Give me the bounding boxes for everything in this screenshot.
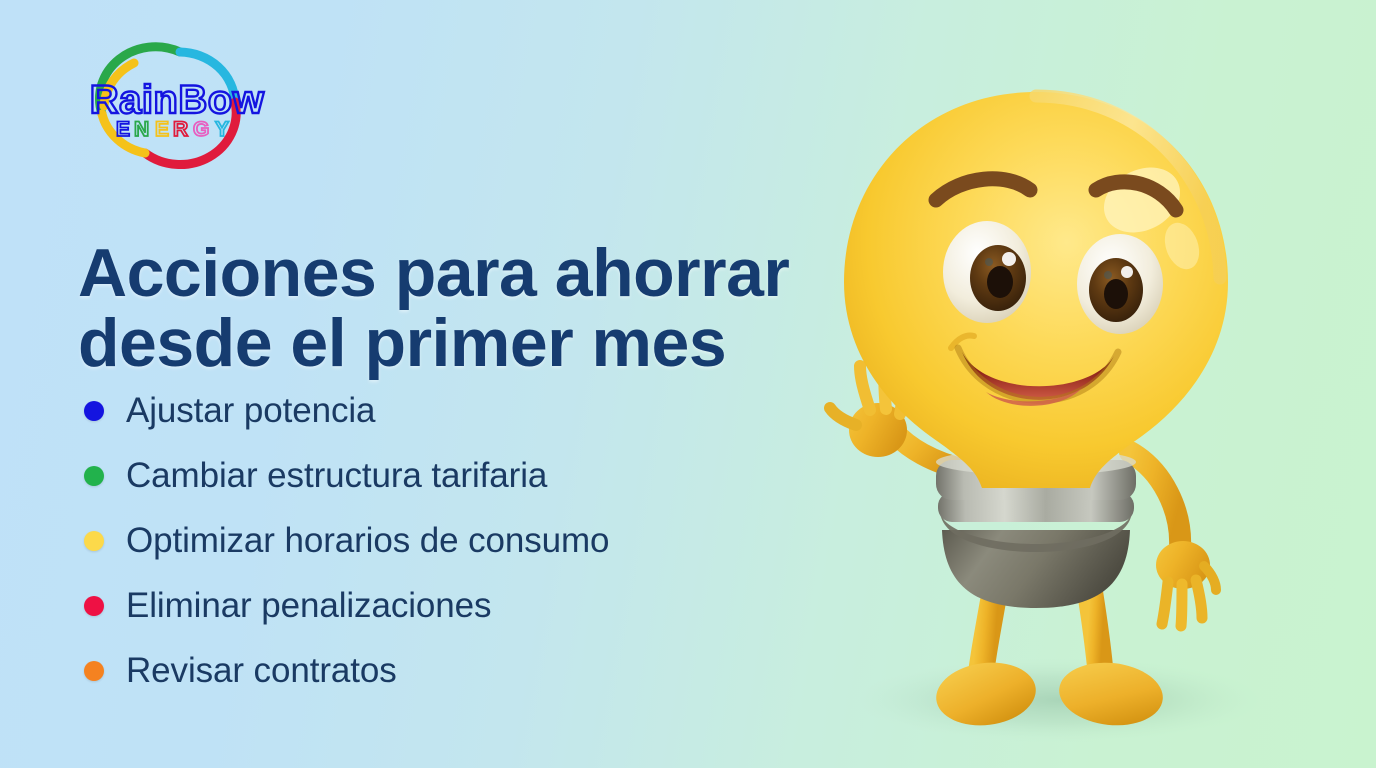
svg-text:G: G	[193, 118, 209, 141]
bullet-dot-icon	[84, 661, 104, 681]
svg-text:E: E	[116, 118, 130, 141]
page-title-line-1: Acciones para ahorrar	[78, 238, 878, 309]
mascot-right-arm	[1130, 452, 1180, 548]
list-item[interactable]: Optimizar horarios de consumo	[84, 508, 874, 573]
page-title: Acciones para ahorrar desde el primer me…	[78, 238, 878, 379]
bullet-dot-icon	[84, 596, 104, 616]
bullet-dot-icon	[84, 531, 104, 551]
mascot-ground-shadow	[855, 658, 1265, 742]
mascot-right-eye	[1077, 234, 1163, 334]
list-item[interactable]: Eliminar penalizaciones	[84, 573, 874, 638]
page-title-line-2: desde el primer mes	[78, 308, 878, 379]
svg-text:R: R	[173, 118, 188, 141]
list-item-label: Revisar contratos	[126, 651, 397, 691]
list-item[interactable]: Ajustar potencia	[84, 378, 874, 443]
list-item-label: Eliminar penalizaciones	[126, 586, 491, 626]
list-item[interactable]: Revisar contratos	[84, 638, 874, 703]
svg-text:E: E	[155, 118, 169, 141]
rainbow-energy-logo[interactable]: RainBow E N E R G Y	[70, 32, 285, 172]
list-item-label: Optimizar horarios de consumo	[126, 521, 609, 561]
list-item-label: Ajustar potencia	[126, 391, 375, 431]
logo-wordmark-primary: RainBow	[90, 78, 265, 122]
action-list: Ajustar potencia Cambiar estructura tari…	[84, 378, 874, 703]
list-item[interactable]: Cambiar estructura tarifaria	[84, 443, 874, 508]
svg-text:N: N	[134, 118, 149, 141]
mascot-right-hand	[1156, 541, 1216, 626]
bullet-dot-icon	[84, 466, 104, 486]
svg-text:Y: Y	[215, 118, 229, 141]
lightbulb-mascot-illustration	[790, 0, 1376, 768]
list-item-label: Cambiar estructura tarifaria	[126, 456, 547, 496]
bullet-dot-icon	[84, 401, 104, 421]
slide-canvas: RainBow E N E R G Y Acciones para ahorra…	[0, 0, 1376, 768]
mascot-left-eye	[943, 221, 1031, 323]
